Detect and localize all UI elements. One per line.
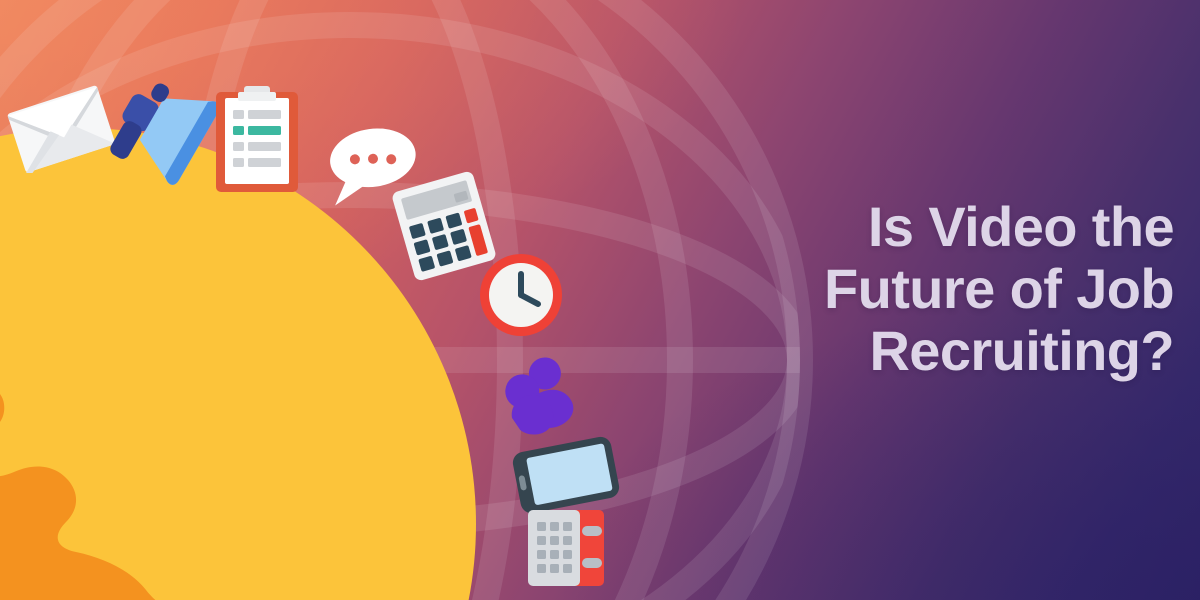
- headline-line-1: Is Video the: [534, 196, 1174, 258]
- calendar-icon: [526, 508, 606, 588]
- page-title: Is Video the Future of Job Recruiting?: [534, 196, 1174, 382]
- headline-line-3: Recruiting?: [534, 320, 1174, 382]
- clipboard-icon: [214, 84, 300, 194]
- headline-line-2: Future of Job: [534, 258, 1174, 320]
- smartphone-icon: [514, 440, 618, 510]
- megaphone-icon: [108, 70, 212, 180]
- envelope-icon: [8, 82, 114, 174]
- banner-image: Is Video the Future of Job Recruiting?: [0, 0, 1200, 600]
